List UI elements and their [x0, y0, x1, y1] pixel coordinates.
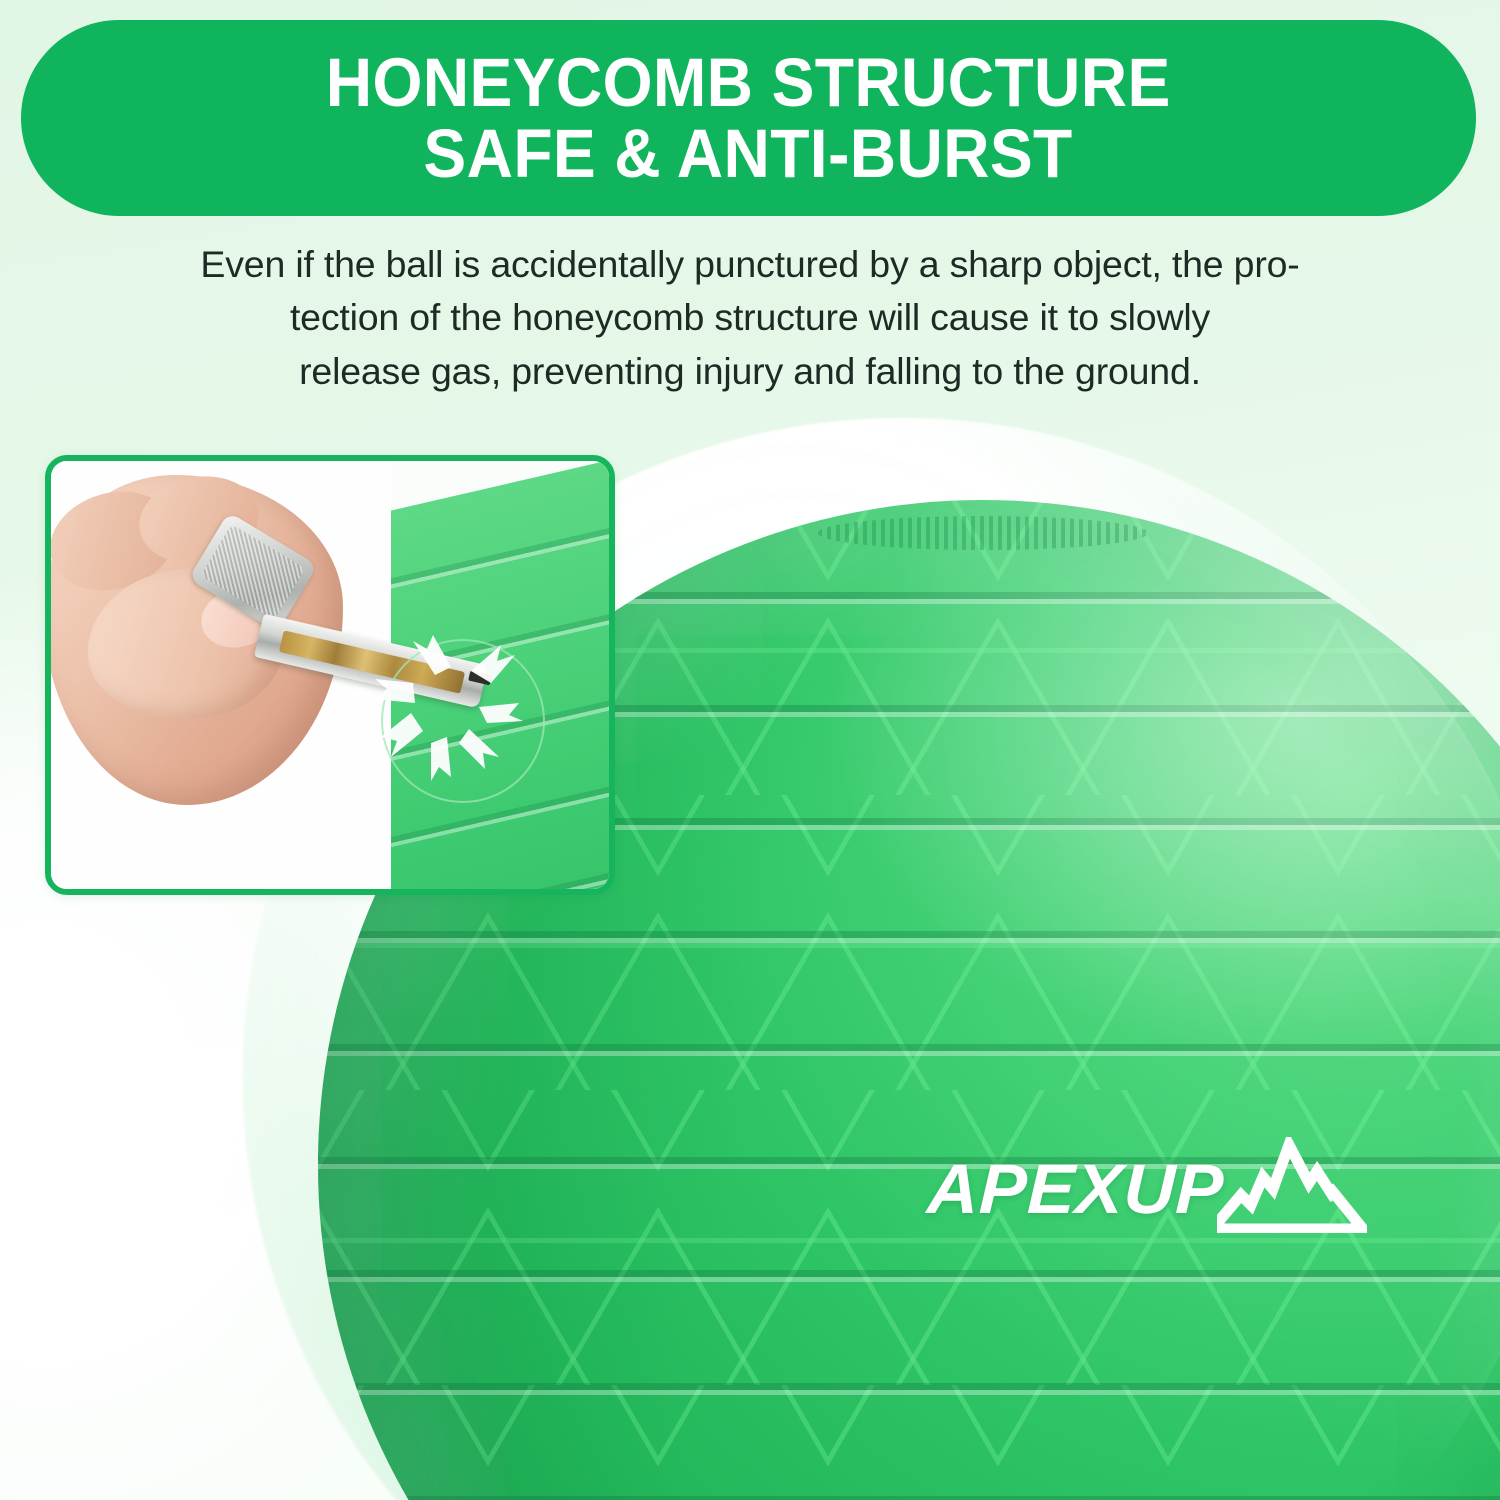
mountain-peaks-icon: [1217, 1137, 1367, 1238]
intro-line-2: tection of the honeycomb structure will …: [60, 291, 1440, 344]
product-infographic: APEXUP: [0, 0, 1500, 1500]
banner-title-line-1: HONEYCOMB STRUCTURE: [326, 47, 1171, 118]
intro-line-1: Even if the ball is accidentally punctur…: [60, 238, 1440, 291]
photo-canvas: [51, 461, 609, 889]
intro-paragraph: Even if the ball is accidentally punctur…: [60, 238, 1440, 398]
intro-line-3: release gas, preventing injury and falli…: [60, 345, 1440, 398]
header-banner: HONEYCOMB STRUCTURE SAFE & ANTI-BURST: [21, 20, 1476, 216]
banner-title-line-2: SAFE & ANTI-BURST: [424, 118, 1073, 189]
puncture-test-photo: [45, 455, 615, 895]
brand-name: APEXUP: [926, 1154, 1225, 1224]
brand-logo: APEXUP: [930, 1146, 1367, 1232]
gas-release-arrows: [351, 611, 571, 811]
